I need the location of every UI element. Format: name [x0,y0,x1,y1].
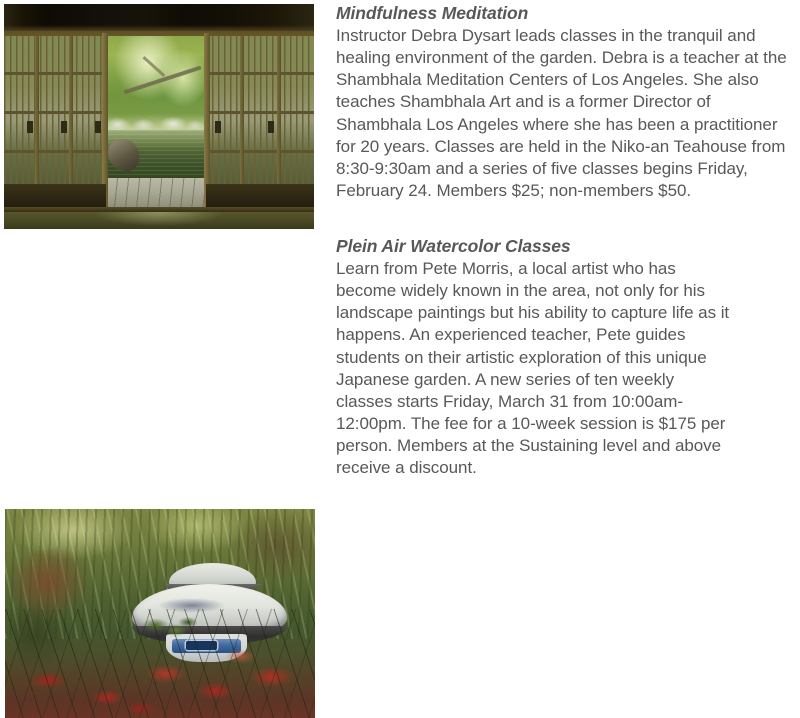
screen-handle [27,121,33,133]
tatami-floor [4,212,314,229]
doorway-jamb-right [204,33,210,209]
screen-mullion [240,36,244,198]
article-two-text: Plein Air Watercolor Classes Learn from … [336,236,800,480]
wooden-deck [106,178,205,207]
article-one-text: Mindfulness Meditation Instructor Debra … [336,3,800,202]
screen-handle [61,121,67,133]
teahouse-ceiling [4,4,314,31]
wall-panel-right [206,184,315,209]
watercolor-painting: ~ ~~~~~ / / [5,509,315,718]
screen-mullion [69,36,73,198]
doorway-jamb-left [102,33,108,209]
screen-mullion [277,36,281,198]
newsletter-page: Mindfulness Meditation Instructor Debra … [0,0,800,492]
screen-handle [268,121,274,133]
artist-signature: ~ ~~~~~ / / [23,680,52,697]
screen-mullion [35,36,39,198]
article-one-body: Instructor Debra Dysart leads classes in… [336,25,800,202]
shoji-screen-left [4,36,106,198]
article-two-body: Learn from Pete Morris, a local artist w… [336,258,731,480]
wall-panel-left [4,184,106,209]
teahouse-garden-photo [4,4,314,229]
article-one-heading: Mindfulness Meditation [336,3,800,24]
shoji-screen-right [206,36,315,198]
article-two-heading: Plein Air Watercolor Classes [336,236,800,257]
stem-strokes [5,609,315,718]
screen-handle [215,121,221,133]
pond-boulder [108,139,139,171]
screen-handle [95,121,101,133]
